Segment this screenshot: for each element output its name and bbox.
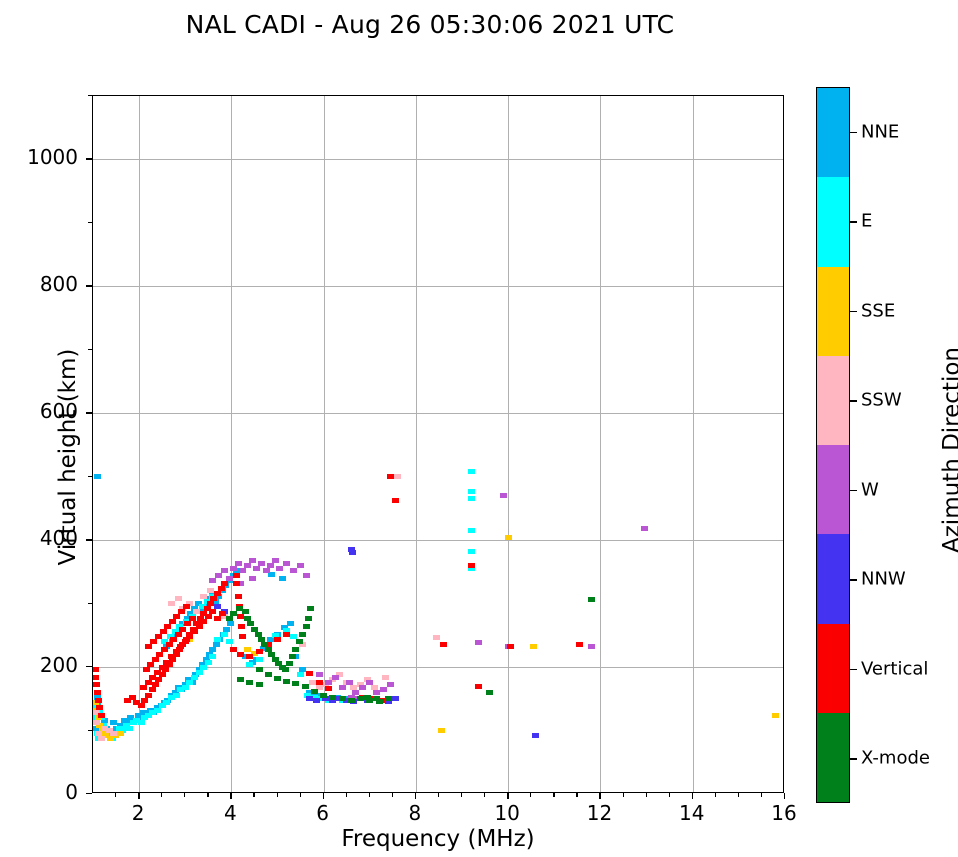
echo-point <box>349 550 356 555</box>
colorbar-tick <box>850 311 857 312</box>
echo-point <box>173 693 180 698</box>
echo-point <box>173 614 180 619</box>
echo-point <box>145 693 152 698</box>
echo-point <box>186 634 193 639</box>
colorbar-band-nnw <box>817 534 849 623</box>
y-axis-minor-tick <box>88 476 92 477</box>
colorbar-label-nne: NNE <box>861 121 899 142</box>
echo-point <box>279 576 286 581</box>
y-axis-title: Virtual height (km) <box>55 257 81 657</box>
colorbar-band-vertical <box>817 624 849 713</box>
echo-point <box>152 657 159 662</box>
echo-point <box>302 684 309 689</box>
echo-point <box>576 642 583 647</box>
x-axis-tick <box>599 793 600 799</box>
echo-point <box>191 675 198 680</box>
echo-point <box>178 609 185 614</box>
x-axis-tick <box>692 793 693 799</box>
echo-point <box>382 675 389 680</box>
colorbar-tick <box>850 221 857 222</box>
echo-point <box>160 629 167 634</box>
x-axis-tick <box>138 793 139 799</box>
colorbar-band-w <box>817 445 849 534</box>
colorbar-title: Azimuth Direction <box>939 285 958 615</box>
colorbar-tick <box>850 669 857 670</box>
echo-point <box>282 667 289 672</box>
echo-point <box>433 635 440 640</box>
echo-point <box>320 693 327 698</box>
echo-point <box>303 624 310 629</box>
echo-point <box>166 642 173 647</box>
echo-point <box>163 700 170 705</box>
colorbar-label-vertical: Vertical <box>861 658 928 679</box>
echo-point <box>96 705 103 710</box>
echo-point <box>189 616 196 621</box>
echo-point <box>244 563 251 568</box>
y-axis-tick-label: 1000 <box>0 145 78 169</box>
ionogram-plot-area <box>92 95 784 793</box>
echo-point <box>233 573 240 578</box>
echo-point <box>210 596 217 601</box>
echo-point <box>329 695 336 700</box>
echo-point <box>468 489 475 494</box>
echo-point <box>95 698 102 703</box>
gridline-vertical <box>416 96 417 792</box>
echo-point <box>253 566 260 571</box>
echo-point <box>325 680 332 685</box>
x-axis-minor-tick <box>253 793 254 797</box>
echo-point <box>588 597 595 602</box>
colorbar-tick <box>850 579 857 580</box>
echo-point <box>256 649 263 654</box>
echo-point <box>299 632 306 637</box>
echo-point <box>214 616 221 621</box>
azimuth-colorbar <box>816 87 850 803</box>
x-axis-tick-label: 14 <box>662 801 722 825</box>
echo-point <box>256 667 263 672</box>
echo-point <box>154 670 161 675</box>
echo-point <box>296 639 303 644</box>
echo-point <box>276 566 283 571</box>
echo-point <box>258 561 265 566</box>
colorbar-tick <box>850 132 857 133</box>
echo-point <box>168 601 175 606</box>
echo-point <box>297 672 304 677</box>
echo-point <box>126 726 133 731</box>
gridline-horizontal <box>93 413 783 414</box>
echo-point <box>133 700 140 705</box>
echo-point <box>249 576 256 581</box>
echo-point <box>179 627 186 632</box>
gridline-vertical <box>693 96 694 792</box>
echo-point <box>141 698 148 703</box>
echo-point <box>303 573 310 578</box>
colorbar-tick <box>850 400 857 401</box>
echo-point <box>265 672 272 677</box>
echo-point <box>237 652 244 657</box>
colorbar-label-x-mode: X-mode <box>861 748 930 769</box>
x-axis-tick-label: 10 <box>477 801 537 825</box>
echo-point <box>155 634 162 639</box>
echo-point <box>221 581 228 586</box>
echo-point <box>287 621 294 626</box>
echo-point <box>256 682 263 687</box>
colorbar-label-w: W <box>861 479 879 500</box>
echo-point <box>267 563 274 568</box>
echo-point <box>292 681 299 686</box>
echo-point <box>196 670 203 675</box>
y-axis-minor-tick <box>88 730 92 731</box>
echo-point <box>289 654 296 659</box>
echo-point <box>149 687 156 692</box>
gridline-vertical <box>600 96 601 792</box>
echo-point <box>93 675 99 680</box>
echo-point <box>221 632 228 637</box>
gridline-horizontal <box>93 540 783 541</box>
echo-point <box>205 614 212 619</box>
colorbar-band-ssw <box>817 356 849 445</box>
x-axis-tick-label: 6 <box>293 801 353 825</box>
echo-point <box>468 563 475 568</box>
echo-point <box>143 667 150 672</box>
echo-point <box>394 474 401 479</box>
echo-point <box>233 581 240 586</box>
echo-point <box>140 685 147 690</box>
echo-point <box>373 696 380 701</box>
echo-point <box>339 685 346 690</box>
x-axis-minor-tick <box>461 793 462 797</box>
echo-point <box>306 671 313 676</box>
y-axis-tick <box>86 285 92 286</box>
colorbar-band-x-mode <box>817 713 849 802</box>
echo-point <box>292 647 299 652</box>
echo-point <box>268 572 275 577</box>
x-axis-minor-tick <box>484 793 485 797</box>
echo-point <box>311 689 318 694</box>
echo-point <box>170 637 177 642</box>
echo-point <box>98 736 105 741</box>
echo-point <box>316 680 323 685</box>
echo-point <box>94 474 101 479</box>
echo-point <box>316 672 323 677</box>
echo-point <box>196 624 203 629</box>
echo-point <box>230 566 237 571</box>
x-axis-minor-tick <box>207 793 208 797</box>
y-axis-tick-label: 0 <box>0 780 78 804</box>
echo-point <box>249 558 256 563</box>
echo-point <box>239 568 246 573</box>
echo-point <box>226 639 233 644</box>
echo-point <box>235 594 242 599</box>
echo-point <box>307 606 314 611</box>
echo-point <box>306 696 313 701</box>
x-axis-minor-tick <box>161 793 162 797</box>
echo-point <box>297 563 304 568</box>
echo-point <box>159 665 166 670</box>
echo-point <box>214 591 221 596</box>
y-axis-minor-tick <box>88 222 92 223</box>
echo-point <box>274 637 281 642</box>
colorbar-label-sse: SSE <box>861 300 895 321</box>
x-axis-tick-label: 8 <box>385 801 445 825</box>
echo-point <box>164 624 171 629</box>
gridline-vertical <box>231 96 232 792</box>
echo-point <box>207 601 214 606</box>
x-axis-minor-tick <box>438 793 439 797</box>
echo-point <box>532 733 539 738</box>
echo-point <box>182 685 189 690</box>
echo-point <box>475 640 482 645</box>
echo-point <box>191 629 198 634</box>
echo-point <box>186 680 193 685</box>
colorbar-label-ssw: SSW <box>861 390 902 411</box>
echo-point <box>387 474 394 479</box>
echo-point <box>93 682 100 687</box>
echo-point <box>156 652 163 657</box>
echo-point <box>149 675 156 680</box>
echo-scatter-canvas <box>93 96 783 792</box>
colorbar-tick <box>850 490 857 491</box>
echo-point <box>392 498 399 503</box>
echo-point <box>272 558 279 563</box>
echo-point <box>145 644 152 649</box>
echo-point <box>339 696 346 701</box>
echo-point <box>263 568 270 573</box>
y-axis-minor-tick <box>88 349 92 350</box>
echo-point <box>385 696 392 701</box>
echo-point <box>346 680 353 685</box>
x-axis-minor-tick <box>761 793 762 797</box>
x-axis-tick-label: 16 <box>754 801 814 825</box>
y-axis-tick <box>86 539 92 540</box>
x-axis-tick <box>415 793 416 799</box>
colorbar-band-nne <box>817 88 849 177</box>
x-axis-minor-tick <box>646 793 647 797</box>
x-axis-minor-tick <box>530 793 531 797</box>
x-axis-minor-tick <box>553 793 554 797</box>
echo-point <box>364 695 371 700</box>
echo-point <box>239 634 246 639</box>
echo-point <box>161 647 168 652</box>
echo-point <box>438 728 445 733</box>
echo-point <box>183 604 190 609</box>
x-axis-tick-label: 2 <box>108 801 168 825</box>
echo-point <box>145 680 152 685</box>
echo-point <box>246 662 253 667</box>
colorbar-tick <box>850 758 857 759</box>
echo-point <box>163 660 170 665</box>
echo-point <box>98 713 105 718</box>
echo-point <box>209 609 216 614</box>
echo-point <box>237 677 244 682</box>
x-axis-minor-tick <box>715 793 716 797</box>
echo-point <box>215 573 222 578</box>
echo-point <box>313 698 320 703</box>
colorbar-label-e: E <box>861 211 872 232</box>
echo-point <box>182 639 189 644</box>
echo-point <box>332 675 339 680</box>
echo-point <box>226 616 233 621</box>
y-axis-tick <box>86 158 92 159</box>
echo-point <box>147 662 154 667</box>
echo-point <box>283 679 290 684</box>
echo-point <box>500 493 507 498</box>
gridline-horizontal <box>93 286 783 287</box>
echo-point <box>209 654 216 659</box>
echo-point <box>359 685 366 690</box>
echo-point <box>305 616 312 621</box>
echo-point <box>221 568 228 573</box>
echo-point <box>177 644 184 649</box>
x-axis-minor-tick <box>369 793 370 797</box>
echo-point <box>93 720 100 725</box>
echo-point <box>475 684 482 689</box>
echo-point <box>213 642 220 647</box>
colorbar-label-nnw: NNW <box>861 569 906 590</box>
echo-point <box>486 690 493 695</box>
page-title: NAL CADI - Aug 26 05:30:06 2021 UTC <box>0 10 860 39</box>
echo-point <box>168 654 175 659</box>
echo-point <box>117 731 124 736</box>
y-axis-tick <box>86 412 92 413</box>
x-axis-minor-tick <box>115 793 116 797</box>
echo-point <box>246 654 253 659</box>
y-axis-minor-tick <box>88 603 92 604</box>
echo-point <box>200 665 207 670</box>
echo-point <box>772 713 779 718</box>
x-axis-minor-tick <box>184 793 185 797</box>
x-axis-tick-label: 4 <box>200 801 260 825</box>
echo-point <box>468 469 475 474</box>
x-axis-title: Frequency (MHz) <box>92 826 784 852</box>
echo-point <box>218 586 225 591</box>
echo-point <box>200 594 207 599</box>
echo-point <box>236 606 243 611</box>
x-axis-minor-tick <box>277 793 278 797</box>
x-axis-tick <box>230 793 231 799</box>
echo-point <box>94 690 101 695</box>
echo-point <box>387 682 394 687</box>
echo-point <box>641 526 648 531</box>
echo-point <box>256 657 263 662</box>
echo-point <box>530 644 537 649</box>
echo-point <box>286 661 293 666</box>
echo-point <box>440 642 447 647</box>
x-axis-tick <box>507 793 508 799</box>
x-axis-tick <box>784 793 785 799</box>
echo-point <box>325 686 332 691</box>
echo-point <box>246 680 253 685</box>
echo-point <box>184 621 191 626</box>
echo-point <box>154 708 161 713</box>
x-axis-tick-label: 12 <box>569 801 629 825</box>
echo-point <box>205 660 212 665</box>
gridline-vertical <box>508 96 509 792</box>
echo-point <box>505 535 512 540</box>
echo-point <box>169 619 176 624</box>
echo-point <box>380 687 387 692</box>
echo-point <box>507 644 514 649</box>
y-axis-tick <box>86 666 92 667</box>
x-axis-minor-tick <box>669 793 670 797</box>
x-axis-minor-tick <box>346 793 347 797</box>
echo-point <box>138 720 145 725</box>
x-axis-tick <box>323 793 324 799</box>
x-axis-minor-tick <box>300 793 301 797</box>
x-axis-minor-tick <box>623 793 624 797</box>
y-axis-minor-tick <box>88 95 92 96</box>
echo-point <box>152 682 159 687</box>
echo-point <box>110 731 117 736</box>
echo-point <box>173 649 180 654</box>
y-axis-tick <box>86 793 92 794</box>
echo-point <box>290 568 297 573</box>
x-axis-minor-tick <box>576 793 577 797</box>
x-axis-minor-tick <box>392 793 393 797</box>
echo-point <box>200 619 207 624</box>
echo-point <box>366 680 373 685</box>
colorbar-band-e <box>817 177 849 266</box>
echo-point <box>209 578 216 583</box>
echo-point <box>468 496 475 501</box>
gridline-horizontal <box>93 159 783 160</box>
echo-point <box>175 596 182 601</box>
echo-point <box>588 644 595 649</box>
x-axis-minor-tick <box>738 793 739 797</box>
echo-point <box>238 624 245 629</box>
echo-point <box>392 696 399 701</box>
echo-point <box>235 561 242 566</box>
echo-point <box>348 698 355 703</box>
echo-point <box>209 647 216 652</box>
echo-point <box>274 676 281 681</box>
echo-point <box>283 632 290 637</box>
echo-point <box>214 637 221 642</box>
echo-point <box>227 621 234 626</box>
echo-point <box>93 667 99 672</box>
echo-point <box>468 528 475 533</box>
colorbar-band-sse <box>817 267 849 356</box>
echo-point <box>175 632 182 637</box>
echo-point <box>468 549 475 554</box>
echo-point <box>283 561 290 566</box>
echo-point <box>150 639 157 644</box>
